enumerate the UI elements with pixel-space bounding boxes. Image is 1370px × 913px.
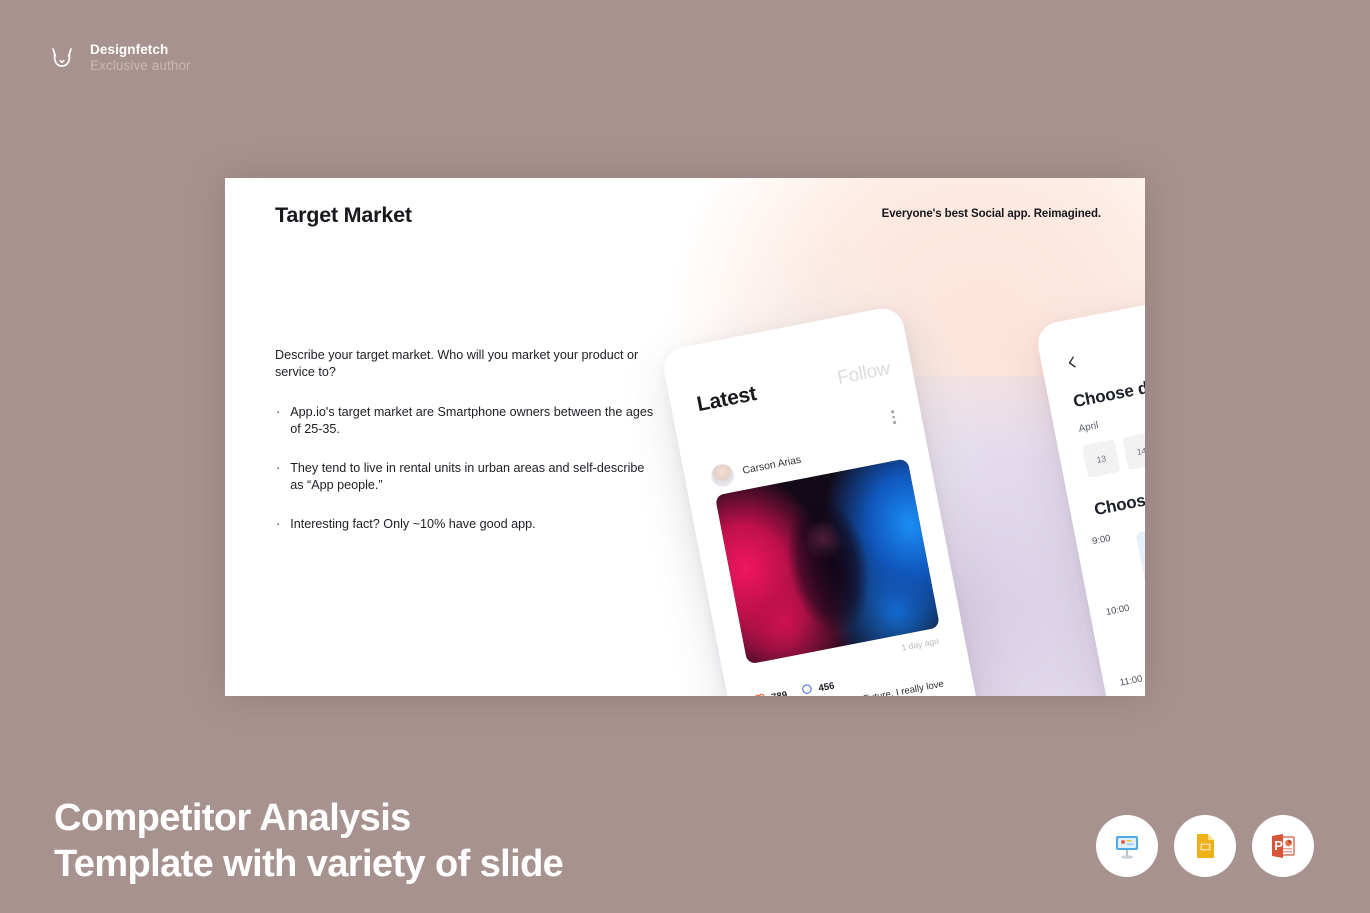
date-chip[interactable]: 13 bbox=[1082, 439, 1121, 478]
master-slot-card[interactable]: 9:00 - 10:00 Leo Knight bbox=[1136, 503, 1145, 590]
time-label: 9:00 bbox=[1091, 532, 1111, 546]
list-item: · They tend to live in rental units in u… bbox=[275, 460, 655, 494]
page-title: Competitor Analysis Template with variet… bbox=[54, 796, 563, 887]
cat-outline-logo-icon bbox=[47, 43, 77, 73]
chevron-left-icon[interactable] bbox=[1065, 355, 1080, 370]
presentation-slide: Target Market Everyone's best Social app… bbox=[225, 178, 1145, 696]
list-item: · App.io's target market are Smartphone … bbox=[275, 404, 655, 438]
comment-stat[interactable]: 456 bbox=[800, 677, 836, 696]
brand-header: Designfetch Exclusive author bbox=[47, 42, 191, 74]
avatar bbox=[709, 462, 736, 489]
powerpoint-badge[interactable]: P bbox=[1252, 815, 1314, 877]
list-item: · Interesting fact? Only ~10% have good … bbox=[275, 516, 655, 533]
tab-following[interactable]: Follow bbox=[836, 358, 892, 390]
feed-timestamp: 1 day ago bbox=[901, 636, 940, 653]
bullet-text: Interesting fact? Only ~10% have good ap… bbox=[290, 516, 535, 533]
date-chip[interactable]: 14 bbox=[1122, 431, 1145, 470]
comment-count: 456 bbox=[817, 680, 835, 694]
month-label: April bbox=[1078, 420, 1100, 435]
feed-stats: 789 456 bbox=[753, 677, 836, 696]
date-picker-row: 13 14 15 16 17 bbox=[1082, 408, 1145, 478]
format-badges: P bbox=[1096, 815, 1314, 877]
choose-masters-heading: Choose masters bbox=[1093, 476, 1145, 520]
slide-tagline: Everyone's best Social app. Reimagined. bbox=[882, 208, 1101, 220]
powerpoint-icon: P bbox=[1268, 831, 1298, 861]
svg-text:P: P bbox=[1274, 838, 1283, 853]
slide-body: Describe your target market. Who will yo… bbox=[275, 347, 655, 533]
tab-latest[interactable]: Latest bbox=[695, 382, 759, 417]
bullet-marker: · bbox=[275, 460, 280, 494]
like-stat[interactable]: 789 bbox=[753, 686, 789, 696]
comment-circle-icon bbox=[800, 681, 814, 696]
phone-mockup-booking: Choose date April 13 14 15 16 17 Choose … bbox=[1034, 282, 1145, 696]
feed-post-photo bbox=[715, 458, 940, 664]
slide-lead-text: Describe your target market. Who will yo… bbox=[275, 347, 655, 381]
keynote-badge[interactable] bbox=[1096, 815, 1158, 877]
bullet-marker: · bbox=[275, 404, 280, 438]
more-vertical-icon[interactable] bbox=[891, 410, 896, 424]
bullet-text: App.io's target market are Smartphone ow… bbox=[290, 404, 655, 438]
time-label: 10:00 bbox=[1105, 602, 1130, 617]
brand-subtitle: Exclusive author bbox=[90, 58, 191, 74]
google-slides-badge[interactable] bbox=[1174, 815, 1236, 877]
page-title-line1: Competitor Analysis bbox=[54, 796, 563, 842]
choose-date-heading: Choose date bbox=[1072, 374, 1145, 413]
slide-title: Target Market bbox=[275, 203, 412, 228]
time-label: 11:00 bbox=[1119, 672, 1143, 687]
bullet-marker: · bbox=[275, 516, 280, 533]
brand-name: Designfetch bbox=[90, 42, 191, 58]
google-slides-icon bbox=[1190, 831, 1220, 861]
keynote-icon bbox=[1112, 831, 1142, 861]
phone-mockup-feed: Latest Follow Carson Arias 1 day ago 789 bbox=[660, 305, 985, 696]
feed-author-name: Carson Arias bbox=[742, 455, 802, 477]
like-count: 789 bbox=[770, 689, 788, 696]
feed-tabs: Latest Follow bbox=[695, 356, 892, 417]
bullet-text: They tend to live in rental units in urb… bbox=[290, 460, 655, 494]
page-title-line2: Template with variety of slide bbox=[54, 842, 563, 888]
heart-icon bbox=[753, 690, 767, 696]
